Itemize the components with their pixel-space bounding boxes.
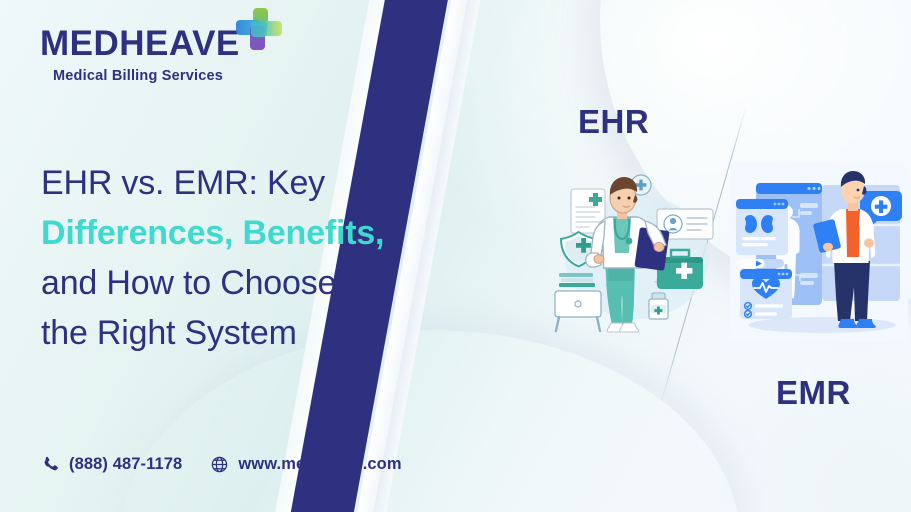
website-contact[interactable]: www.medheave.com: [210, 455, 401, 474]
headline-line-2: Differences, Benefits,: [41, 208, 481, 258]
phone-icon: [41, 455, 60, 474]
phone-number: (888) 487-1178: [69, 455, 182, 474]
brand-logo[interactable]: MEDHEAVE Medical Billing Services: [40, 26, 282, 84]
section-label-ehr: EHR: [578, 103, 649, 141]
emr-doctor-illustration: [730, 163, 908, 341]
page-title: EHR vs. EMR: Key Differences, Benefits, …: [41, 158, 481, 358]
ehr-doctor-illustration: [545, 165, 725, 340]
globe-icon: [210, 455, 229, 474]
logo-wordmark: MEDHEAVE: [40, 26, 240, 61]
phone-contact[interactable]: (888) 487-1178: [41, 455, 182, 474]
banner-canvas: MEDHEAVE Medical Billing Services EHR vs…: [0, 0, 911, 512]
headline-line-3: and How to Choose: [41, 258, 481, 308]
website-url: www.medheave.com: [238, 455, 401, 474]
logo-wordmark-row: MEDHEAVE: [40, 26, 282, 61]
section-label-emr: EMR: [776, 374, 851, 412]
headline-line-4: the Right System: [41, 308, 481, 358]
logo-tagline: Medical Billing Services: [53, 68, 282, 84]
contact-bar: (888) 487-1178 www.medheave.com: [41, 455, 402, 474]
medical-cross-pinwheel-icon: [236, 8, 282, 54]
headline-line-1: EHR vs. EMR: Key: [41, 158, 481, 208]
